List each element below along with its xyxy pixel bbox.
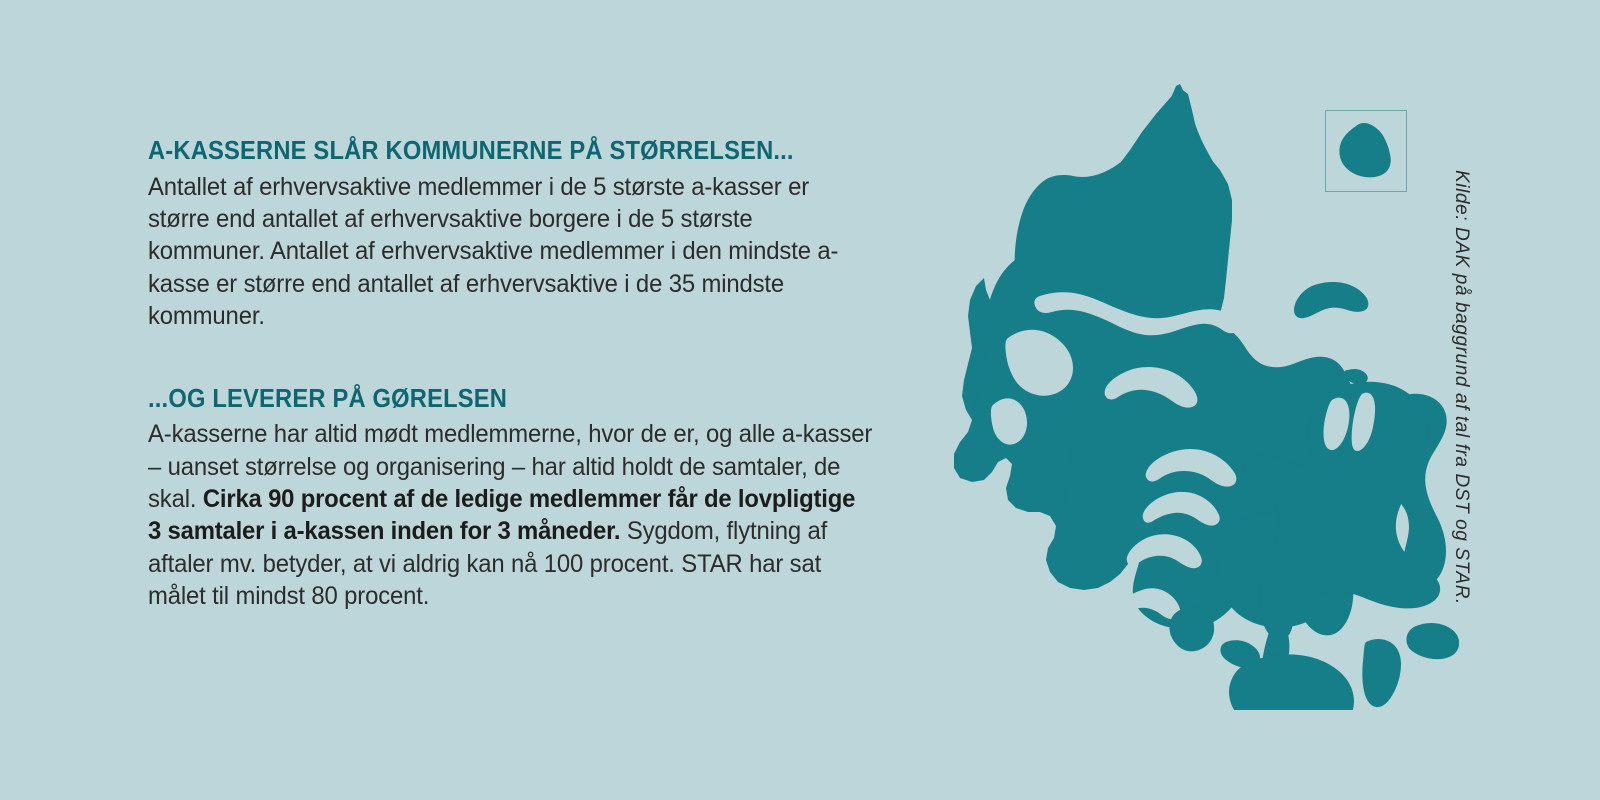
source-note: Kilde: DAK på baggrund af tal fra DST og…: [1450, 170, 1472, 630]
infographic-canvas: A-KASSERNE SLÅR KOMMUNERNE PÅ STØRRELSEN…: [0, 0, 1600, 800]
block-two-heading: ...OG LEVERER PÅ GØRELSEN: [148, 386, 855, 414]
map-island-laeso: [1294, 282, 1368, 318]
text-block-one: A-KASSERNE SLÅR KOMMUNERNE PÅ STØRRELSEN…: [148, 138, 908, 333]
map-island-bornholm: [1339, 123, 1390, 177]
block-one-run-0: Antallet af erhvervsaktive medlemmer i d…: [148, 173, 838, 331]
text-block-two: ...OG LEVERER PÅ GØRELSEN A-kasserne har…: [148, 386, 908, 613]
bornholm-inset-frame: [1325, 110, 1407, 192]
map-island-als: [1169, 607, 1214, 651]
block-two-body: A-kasserne har altid mødt medlemmerne, h…: [148, 418, 874, 612]
map-island-falster: [1362, 639, 1401, 707]
text-column: A-KASSERNE SLÅR KOMMUNERNE PÅ STØRRELSEN…: [148, 138, 908, 613]
block-one-heading: A-KASSERNE SLÅR KOMMUNERNE PÅ STØRRELSEN…: [148, 138, 855, 166]
block-one-body: Antallet af erhvervsaktive medlemmer i d…: [148, 171, 874, 333]
